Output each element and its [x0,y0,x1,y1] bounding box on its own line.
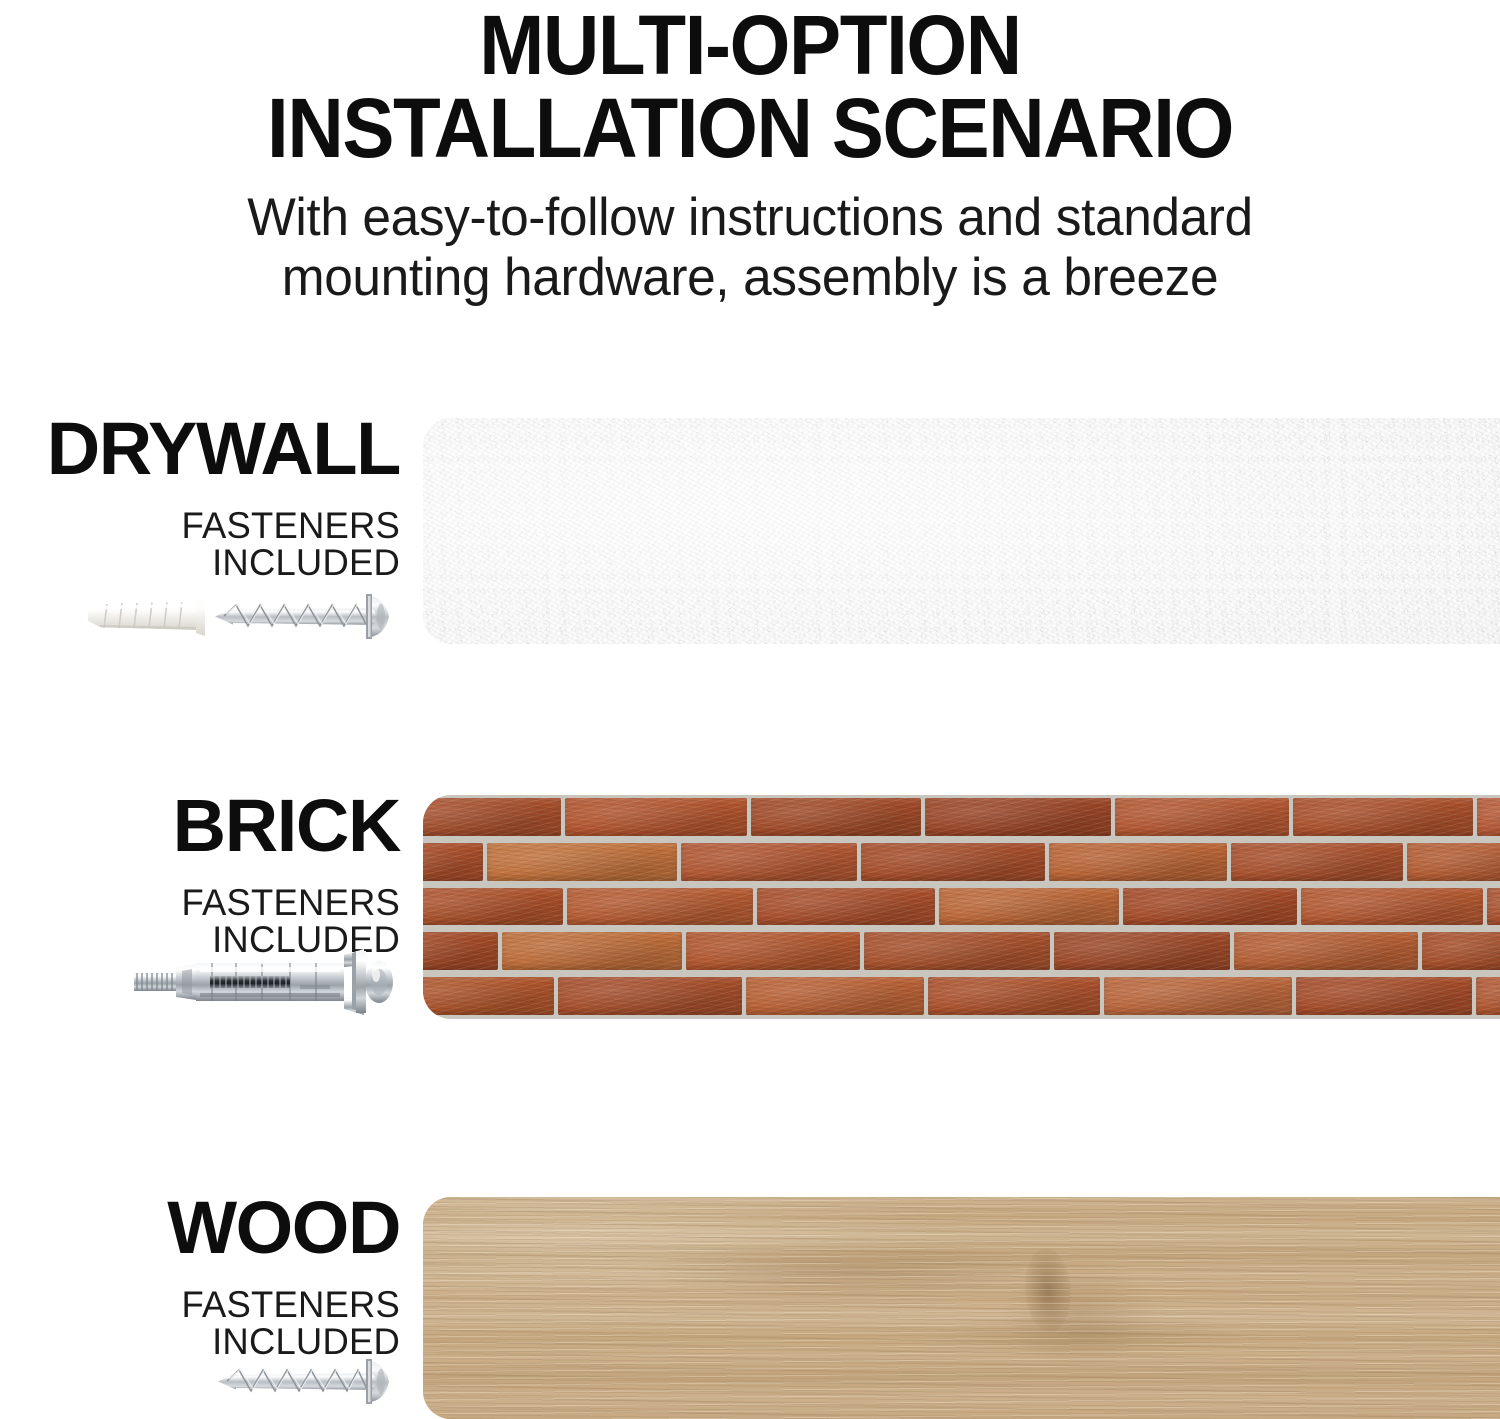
hardware-illustration-wood [0,1345,400,1419]
header: MULTI-OPTION INSTALLATION SCENARIO With … [0,0,1500,307]
wood-screw-icon [218,1359,389,1404]
installation-row-brick: BRICK FASTENERS INCLUDED [0,795,1500,1019]
molly-bolt-anchor-icon [134,949,393,1015]
hardware-illustration-brick [0,945,400,1019]
page-subtitle: With easy-to-follow instructions and sta… [23,170,1478,307]
brick-course [423,840,1500,885]
fasteners-note-drywall: FASTENERS INCLUDED [6,486,400,581]
texture-swatch-brick [423,795,1500,1019]
brick-course [423,795,1500,840]
material-name-brick: BRICK [0,789,400,863]
material-name-drywall: DRYWALL [0,412,400,486]
subtitle-line-2: mounting hardware, assembly is a breeze [23,248,1478,307]
brick-course [423,974,1500,1019]
brick-texture [423,795,1500,1019]
brick-label-column: BRICK FASTENERS INCLUDED [0,789,400,958]
installation-row-wood: WOOD FASTENERS INCLUDED [0,1197,1500,1419]
installation-row-drywall: DRYWALL FASTENERS INCLUDED [0,418,1500,644]
headline-line-1: MULTI-OPTION [53,4,1448,87]
wood-screw-icon [215,594,389,639]
wood-knot [1022,1247,1074,1334]
texture-swatch-drywall [423,418,1500,644]
brick-course [423,885,1500,930]
plastic-wall-anchor-icon [88,596,205,636]
subtitle-line-1: With easy-to-follow instructions and sta… [23,188,1478,247]
wood-texture [423,1197,1500,1419]
wood-label-column: WOOD FASTENERS INCLUDED [0,1191,400,1360]
material-name-wood: WOOD [0,1191,400,1265]
hardware-illustration-drywall [0,580,400,654]
texture-swatch-wood [423,1197,1500,1419]
drywall-label-column: DRYWALL FASTENERS INCLUDED [0,412,400,581]
fasteners-note-brick: FASTENERS INCLUDED [6,863,400,958]
brick-course [423,929,1500,974]
headline-line-2: INSTALLATION SCENARIO [53,87,1448,170]
page-title: MULTI-OPTION INSTALLATION SCENARIO [53,0,1448,170]
drywall-texture [423,418,1500,644]
